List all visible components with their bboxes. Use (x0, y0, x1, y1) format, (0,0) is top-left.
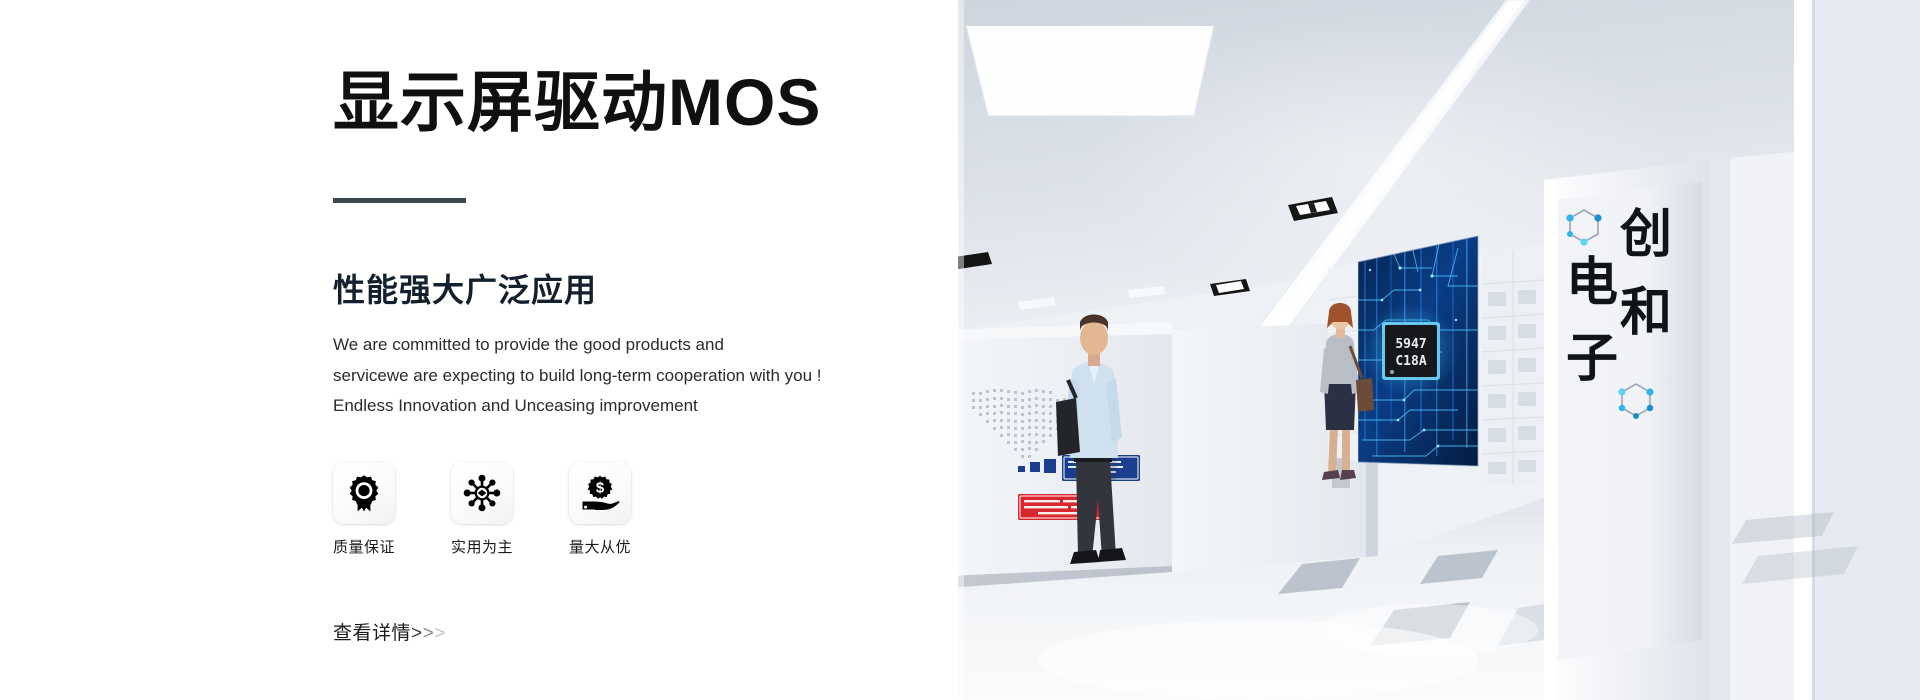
feature-label: 实用为主 (451, 536, 571, 557)
feature-item-bulk-discount[interactable]: $ 量大从优 (569, 462, 689, 557)
svg-text:创: 创 (1619, 206, 1672, 264)
showroom-photo: 5947 C18A (958, 0, 1920, 700)
led-chip-graphic: 5947 C18A (1382, 322, 1440, 380)
banner-description: We are committed to provide the good pro… (333, 330, 893, 422)
svg-text:和: 和 (1620, 284, 1672, 342)
view-details-link[interactable]: 查看详情>>> (333, 618, 446, 645)
title-divider (333, 198, 466, 203)
chevron-1-icon: > (411, 623, 423, 644)
banner-title: 显示屏驱动MOS (333, 62, 821, 142)
feature-item-quality[interactable]: 质量保证 (333, 462, 453, 557)
feature-icon-tile: $ (569, 462, 631, 524)
hand-money-icon: $ (580, 475, 620, 511)
feature-label: 质量保证 (333, 536, 453, 557)
description-line-3: Endless Innovation and Unceasing improve… (333, 391, 893, 422)
feature-label: 量大从优 (569, 536, 689, 557)
feature-icon-tile (451, 462, 513, 524)
description-line-2: servicewe are expecting to build long-te… (333, 361, 893, 392)
chevron-2-icon: > (423, 623, 435, 644)
award-badge-icon (346, 474, 382, 512)
description-line-1: We are committed to provide the good pro… (333, 330, 893, 361)
tech-brick-panels (1482, 244, 1544, 486)
svg-text:$: $ (596, 480, 605, 497)
banner-text-panel: 显示屏驱动MOS 性能强大广泛应用 We are committed to pr… (0, 0, 960, 700)
feature-item-practical[interactable]: 实用为主 (451, 462, 571, 557)
showroom-illustration: 5947 C18A (958, 0, 1920, 700)
view-details-label: 查看详情 (333, 623, 411, 644)
led-chip-line1: 5947 (1395, 337, 1426, 352)
banner-subtitle: 性能强大广泛应用 (333, 268, 597, 312)
svg-text:电: 电 (1566, 254, 1618, 312)
network-hub-icon (463, 474, 501, 512)
led-chip-line2: C18A (1395, 354, 1426, 369)
chevron-3-icon: > (434, 623, 446, 644)
svg-text:子: 子 (1566, 330, 1618, 388)
led-circuit-screen: 5947 C18A (1356, 232, 1482, 470)
product-banner: 显示屏驱动MOS 性能强大广泛应用 We are committed to pr… (0, 0, 1920, 700)
feature-icon-tile (333, 462, 395, 524)
